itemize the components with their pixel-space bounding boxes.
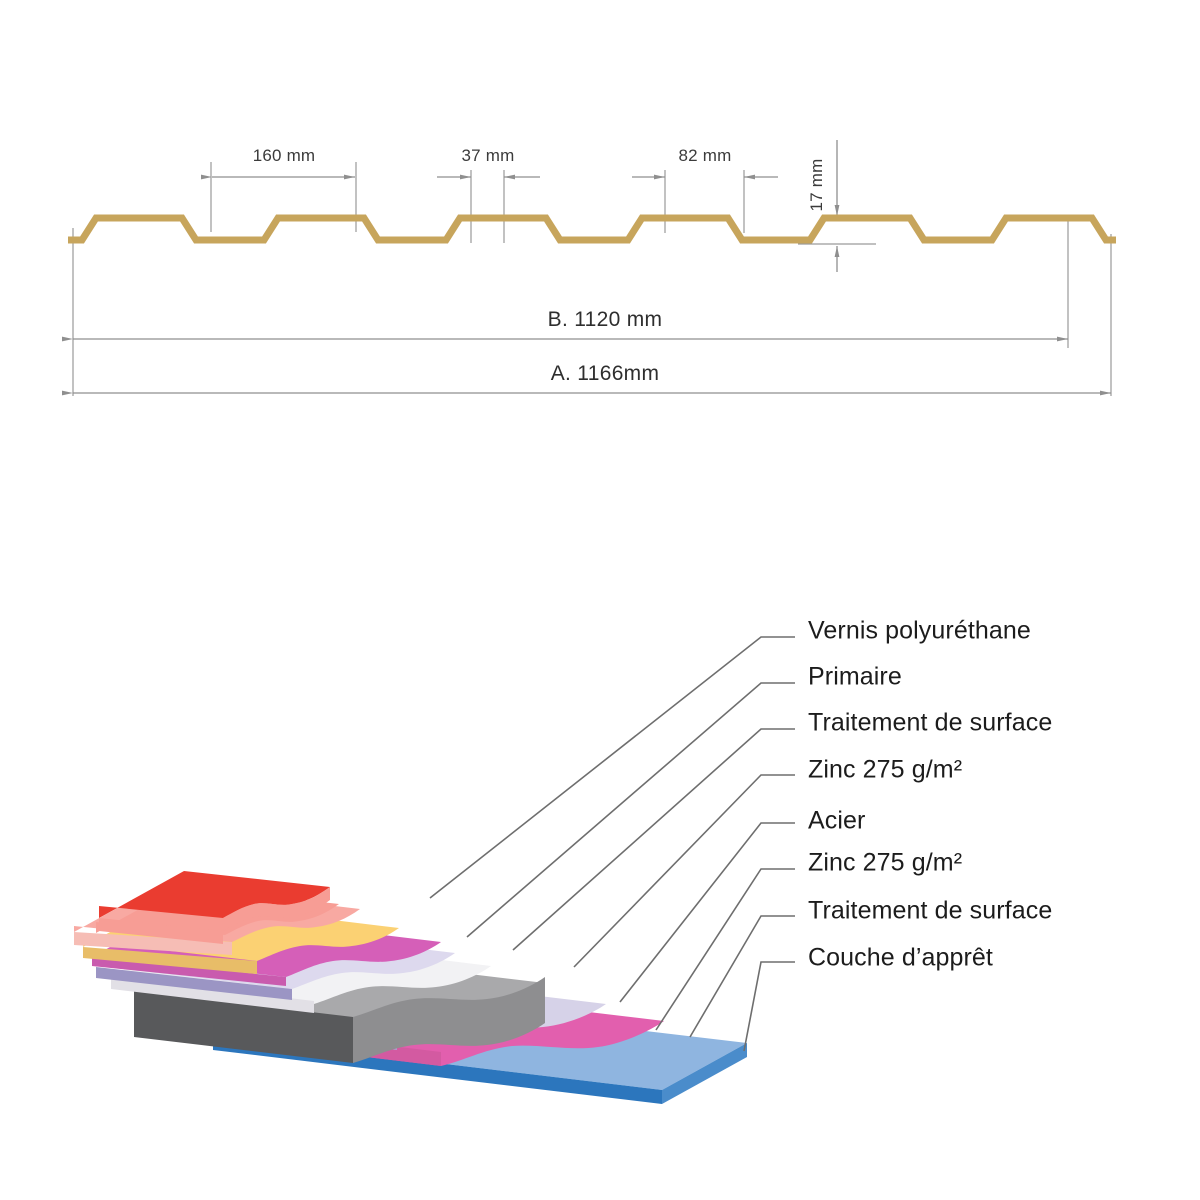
dimension-cover-width-label: B. 1120 mm xyxy=(548,308,663,331)
leader-line-vernis xyxy=(430,637,795,898)
profile-extension-lines xyxy=(73,162,1111,396)
layer-label-traitement-2: Traitement de surface xyxy=(808,897,1052,925)
technical-diagram-canvas: 160 mm 37 mm 82 mm 17 mm xyxy=(0,0,1200,1200)
leader-line-acier xyxy=(620,823,795,1002)
dimension-17mm-label: 17 mm xyxy=(807,159,826,212)
leader-line-traitement-1 xyxy=(513,729,795,950)
layer-label-traitement-1: Traitement de surface xyxy=(808,709,1052,737)
dimension-37mm: 37 mm xyxy=(437,146,540,177)
layer-label-acier: Acier xyxy=(808,807,865,835)
dimension-160mm-label: 160 mm xyxy=(253,146,316,165)
corrugated-sheet-profile-path xyxy=(68,218,1116,240)
dimension-cover-width: B. 1120 mm xyxy=(73,308,1068,339)
dimension-37mm-label: 37 mm xyxy=(462,146,515,165)
leader-line-zinc-2 xyxy=(656,869,795,1030)
layer-label-couche-appret: Couche d’apprêt xyxy=(808,944,993,972)
leader-line-couche-appret xyxy=(744,962,795,1051)
layer-label-zinc-1: Zinc 275 g/m² xyxy=(808,756,962,784)
dimension-160mm: 160 mm xyxy=(212,146,355,177)
dimension-17mm: 17 mm xyxy=(807,140,837,272)
leader-line-traitement-2 xyxy=(690,916,795,1037)
layer-stack-illustration xyxy=(74,871,747,1104)
diagram-page: 160 mm 37 mm 82 mm 17 mm xyxy=(0,0,1200,1200)
leader-line-primaire xyxy=(467,683,795,937)
layer-label-zinc-2: Zinc 275 g/m² xyxy=(808,849,962,877)
dimension-total-width-label: A. 1166mm xyxy=(551,362,660,385)
dimension-total-width: A. 1166mm xyxy=(73,362,1111,393)
profile-section: 160 mm 37 mm 82 mm 17 mm xyxy=(68,140,1116,396)
dimension-82mm-label: 82 mm xyxy=(679,146,732,165)
layer-labels: Vernis polyuréthane Primaire Traitement … xyxy=(808,617,1052,972)
dimension-82mm: 82 mm xyxy=(632,146,778,177)
layer-label-vernis: Vernis polyuréthane xyxy=(808,617,1031,645)
leader-line-zinc-1 xyxy=(574,775,795,967)
layer-label-primaire: Primaire xyxy=(808,663,902,691)
